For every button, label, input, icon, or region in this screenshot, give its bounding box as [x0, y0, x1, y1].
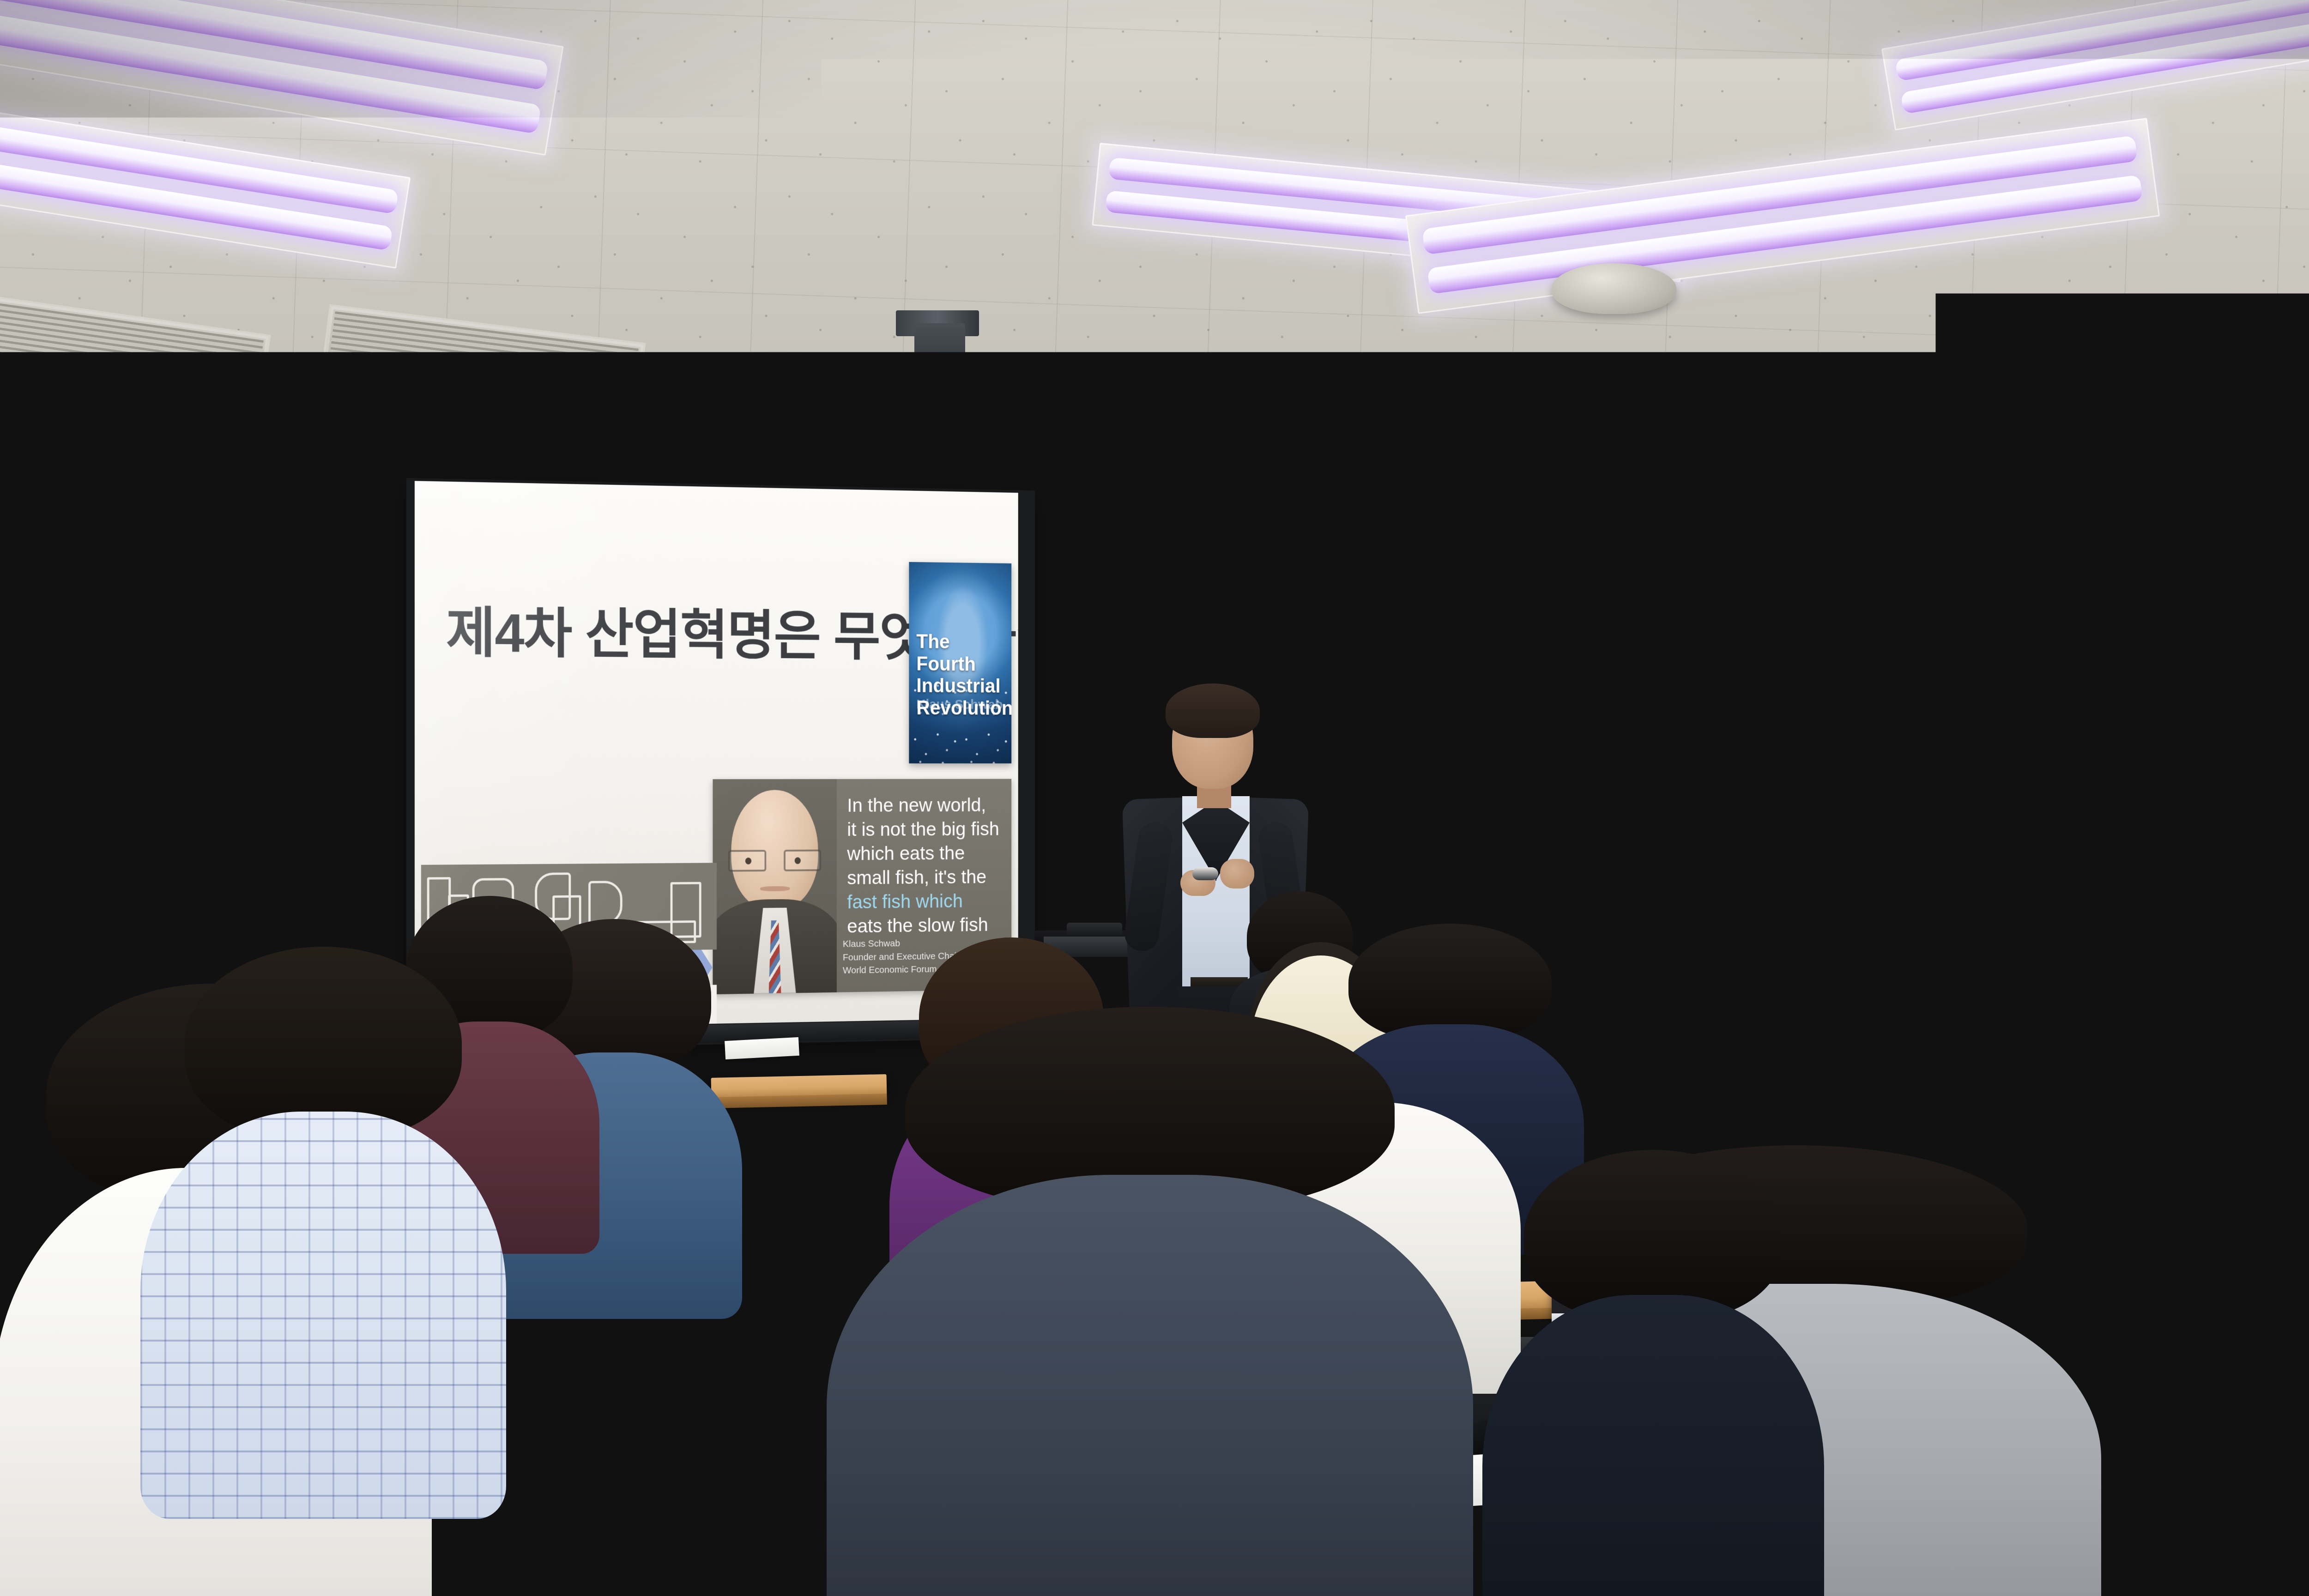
podium-monitor: [1630, 852, 1764, 901]
torso-dark-navy: [827, 1175, 1473, 1596]
head: [2277, 1071, 2309, 1219]
fire-extinguisher-sign-label: 소화기: [1425, 829, 1489, 864]
desk-foreground-right: [2216, 1366, 2309, 1404]
wall-speaker: [1741, 522, 1833, 573]
projector-air-grille: [1112, 397, 1170, 458]
audience-member-striped-right: [2277, 1071, 2309, 1596]
desk-foreground-far-right: [2106, 1278, 2222, 1306]
book-cover-author: Klaus Schwab: [916, 697, 1003, 712]
quote-line: small fish, it's the: [847, 865, 1001, 890]
presenter-hair: [1166, 683, 1260, 738]
quote-line: which eats the: [847, 841, 1001, 866]
quote-line-highlighted: fast fish which: [847, 889, 1001, 915]
status-led: [1367, 804, 1375, 812]
thermostat-panel: [1358, 785, 1408, 864]
audience-member-black-hair-right-front: [1524, 1150, 1783, 1596]
quote-line: In the new world,: [847, 793, 1001, 817]
audience-member-back-1: [1946, 871, 2046, 1009]
quote-line: it is not the big fish: [847, 817, 1001, 842]
projector-cable: [961, 351, 1021, 420]
wall-outlet-plate: [2124, 550, 2159, 600]
presentation-remote: [1192, 867, 1218, 880]
chair-back: [683, 1312, 845, 1464]
klaus-schwab-portrait: [713, 779, 836, 994]
projector-cable: [1284, 393, 1335, 453]
handout-papers-3: [725, 1037, 799, 1059]
smoke-detector: [2032, 393, 2076, 417]
wall-seam: [1330, 462, 1332, 914]
ceiling-speaker-dome: [1552, 263, 1676, 314]
torso: [1482, 1295, 1824, 1596]
book-cover-image: The Fourth Industrial Revolution Klaus S…: [909, 562, 1011, 763]
projector-sensor: [1258, 424, 1275, 445]
glasses-icon: [726, 850, 823, 872]
audience-member-dark-navy-front: [905, 1007, 1395, 1596]
smoke-detector: [268, 369, 319, 398]
desk-row-left: [711, 1074, 887, 1098]
quote-line: eats the slow fish: [847, 913, 1001, 939]
torso-light-blue: [140, 1112, 506, 1519]
audience-member-light-blue-shirt: [185, 947, 462, 1432]
robot-arm-icon: [588, 881, 623, 925]
projector-air-grille: [761, 365, 826, 433]
lecture-hall-photo: 소화기 제4차 산업혁명은 무엇인가? The Fourth Industria…: [0, 0, 2309, 1596]
portrait-mouth: [760, 886, 790, 891]
wall-outlet-plate: [2189, 545, 2217, 591]
projector-sensor: [927, 395, 943, 416]
portrait-eye: [745, 858, 751, 864]
presenter-hand-right: [1220, 859, 1254, 889]
